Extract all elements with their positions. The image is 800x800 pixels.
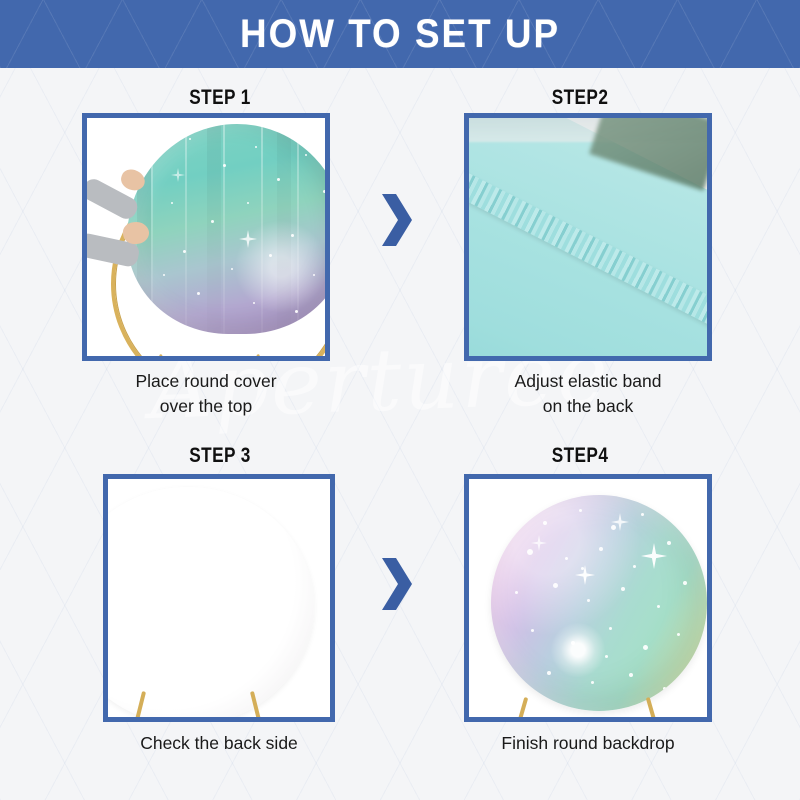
step-2-frame [464, 113, 712, 361]
step-1-caption: Place round cover over the top [82, 369, 330, 419]
step-3-caption: Check the back side [103, 731, 335, 756]
step-4-frame [464, 474, 712, 722]
header-banner: HOW TO SET UP [0, 0, 800, 68]
light-glow [551, 623, 605, 677]
how-to-set-up-infographic: HOW TO SET UP Aperturee STEP 1 [0, 0, 800, 800]
chevron-right-icon-row2 [378, 556, 414, 617]
step-1-label: STEP 1 [130, 86, 310, 110]
step-2-caption: Adjust elastic band on the back [464, 369, 712, 419]
step-2-photo [469, 118, 707, 356]
stand-leg-right [646, 697, 656, 717]
step-4-photo [469, 479, 707, 717]
page-title: HOW TO SET UP [32, 0, 768, 68]
step-1-photo [87, 118, 325, 356]
round-cover-fabric [127, 124, 325, 334]
stand-leg-left [518, 697, 528, 717]
step-4-caption: Finish round backdrop [464, 731, 712, 756]
step-2-label: STEP2 [490, 86, 670, 110]
chevron-right-icon-row1 [378, 192, 414, 253]
step-3-photo [108, 479, 330, 717]
finished-round-backdrop [491, 495, 707, 711]
step-4-label: STEP4 [490, 444, 670, 468]
step-3-label: STEP 3 [130, 444, 310, 468]
step-3-frame [103, 474, 335, 722]
step-1-frame [82, 113, 330, 361]
